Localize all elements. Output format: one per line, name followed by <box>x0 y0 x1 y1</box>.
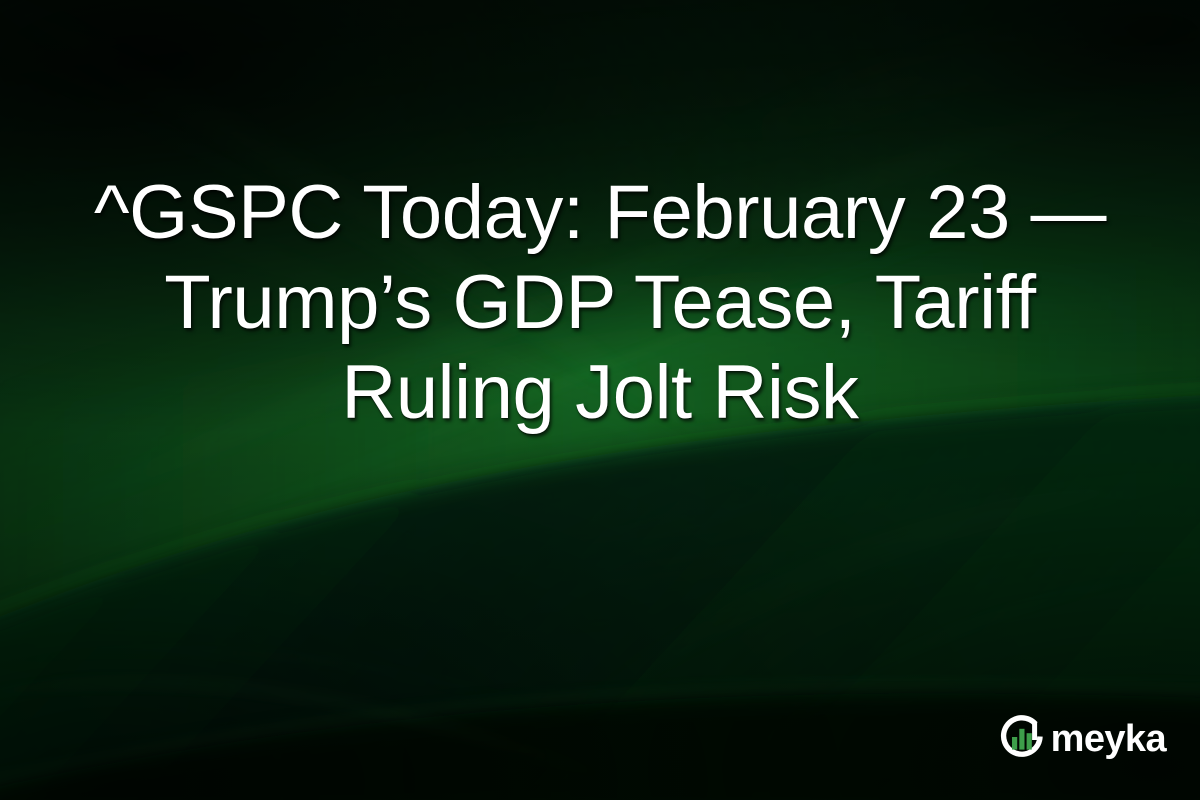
article-cover-card: ^GSPC Today: February 23 — Trump’s GDP T… <box>0 0 1200 800</box>
headline-block: ^GSPC Today: February 23 — Trump’s GDP T… <box>0 168 1200 438</box>
meyka-logo[interactable]: meyka <box>996 712 1166 764</box>
headline-line-1: ^GSPC Today: February 23 — <box>94 168 1106 258</box>
headline-line-3: Ruling Jolt Risk <box>94 348 1106 438</box>
headline-line-2: Trump’s GDP Tease, Tariff <box>94 258 1106 348</box>
meyka-wordmark: meyka <box>1051 720 1166 758</box>
meyka-bar-chart-ring-icon <box>996 712 1048 764</box>
page-title: ^GSPC Today: February 23 — Trump’s GDP T… <box>94 168 1106 438</box>
